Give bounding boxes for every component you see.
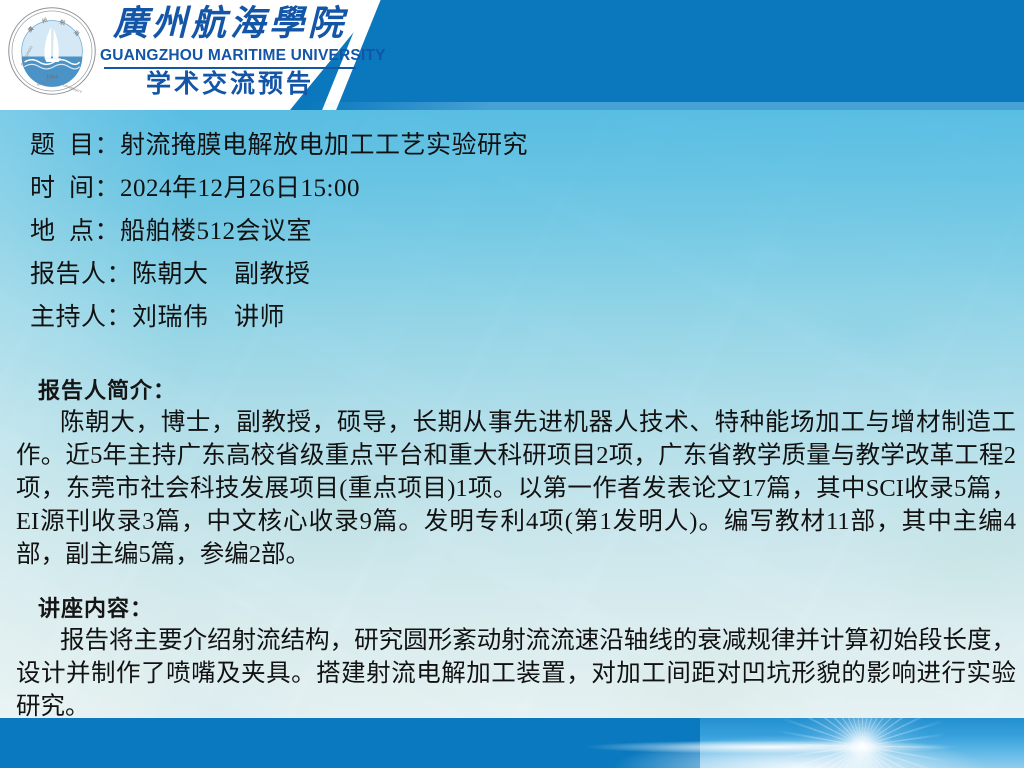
university-name-en: GUANGZHOU MARITIME UNIVERSITY [100, 46, 360, 65]
speaker-bio-title: 报告人简介： [38, 376, 1016, 406]
university-name-cn: 廣州航海學院 [100, 2, 360, 46]
header-title-group: 廣州航海學院 GUANGZHOU MARITIME UNIVERSITY 学术交… [100, 2, 360, 100]
light-burst-icon [742, 718, 982, 768]
header-bottom-highlight [0, 102, 1024, 110]
poster-footer [0, 718, 1024, 768]
lecture-topic-section: 讲座内容： 报告将主要介绍射流结构，研究圆形紊动射流流速沿轴线的衰减规律并计算初… [16, 594, 1016, 723]
info-line-time: 时 间：2024年12月26日15:00 [30, 167, 990, 210]
poster-header: 1964 廣 州 航 海 GUANGZHOU MARITIME UNIVERSI… [0, 0, 1024, 110]
speaker-bio-section: 报告人简介： 陈朝大，博士，副教授，硕导，长期从事先进机器人技术、特种能场加工与… [16, 376, 1016, 571]
lecture-topic-text: 报告将主要介绍射流结构，研究圆形紊动射流流速沿轴线的衰减规律并计算初始段长度，设… [16, 624, 1016, 723]
poster-subtitle: 学术交流预告 [100, 70, 360, 100]
info-line-host: 主持人：刘瑞伟 讲师 [30, 296, 990, 339]
poster-content: 题 目：射流掩膜电解放电加工工艺实验研究 时 间：2024年12月26日15:0… [0, 110, 1024, 718]
university-seal-icon: 1964 廣 州 航 海 GUANGZHOU MARITIME UNIVERSI… [6, 5, 98, 97]
event-info-block: 题 目：射流掩膜电解放电加工工艺实验研究 时 间：2024年12月26日15:0… [30, 124, 990, 339]
info-line-title: 题 目：射流掩膜电解放电加工工艺实验研究 [30, 124, 990, 167]
header-divider-rule [104, 67, 356, 69]
announcement-poster: 1964 廣 州 航 海 GUANGZHOU MARITIME UNIVERSI… [0, 0, 1024, 768]
info-line-speaker: 报告人：陈朝大 副教授 [30, 253, 990, 296]
speaker-bio-text: 陈朝大，博士，副教授，硕导，长期从事先进机器人技术、特种能场加工与增材制造工作。… [16, 406, 1016, 571]
info-line-venue: 地 点：船舶楼512会议室 [30, 210, 990, 253]
lecture-topic-title: 讲座内容： [38, 594, 1016, 624]
